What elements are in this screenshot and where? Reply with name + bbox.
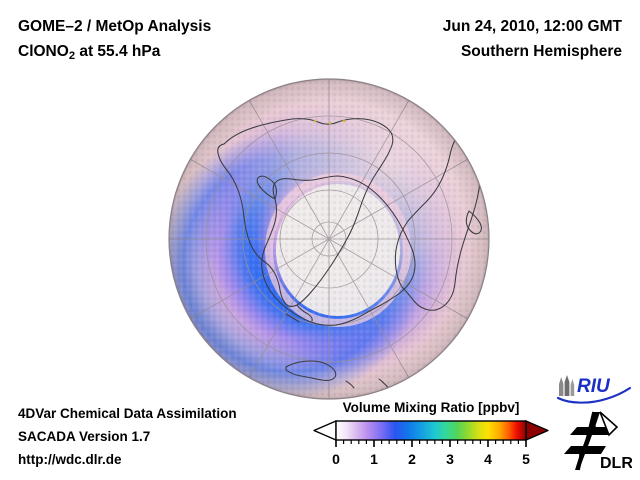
polar-map-globe [168, 78, 490, 400]
colorbar-title: Volume Mixing Ratio [ppbv] [312, 400, 550, 415]
colorbar-right-cap [526, 421, 548, 440]
colorbar: Volume Mixing Ratio [ppbv] 012345 [312, 400, 550, 470]
dlr-logo: DLR [562, 410, 632, 472]
footer-credits: 4DVar Chemical Data Assimilation SACADA … [18, 402, 237, 471]
colorbar-tick-label: 1 [370, 451, 378, 467]
colorbar-svg: 012345 [312, 420, 550, 470]
species-level: at 55.4 hPa [75, 43, 160, 60]
colorbar-tick-label: 3 [446, 451, 454, 467]
colorbar-tick-label: 4 [484, 451, 492, 467]
species-name: ClONO [18, 43, 69, 60]
colorbar-gradient [336, 421, 526, 440]
colorbar-tick-label: 2 [408, 451, 416, 467]
limb-shading [169, 79, 489, 399]
colorbar-tick-label: 0 [332, 451, 340, 467]
footer-line-version: SACADA Version 1.7 [18, 425, 237, 448]
footer-line-method: 4DVar Chemical Data Assimilation [18, 402, 237, 425]
timestamp-label: Jun 24, 2010, 12:00 GMT [443, 14, 622, 39]
header-right: Jun 24, 2010, 12:00 GMT Southern Hemisph… [443, 14, 622, 64]
riu-wordmark: RIU [577, 376, 611, 397]
title-line-species: ClONO2 at 55.4 hPa [18, 39, 211, 66]
colorbar-tick-label: 5 [522, 451, 530, 467]
riu-spire-icon [559, 375, 574, 396]
dlr-wordmark: DLR [600, 455, 632, 472]
title-line-instrument: GOME–2 / MetOp Analysis [18, 14, 211, 39]
colorbar-ticks [336, 440, 526, 447]
colorbar-tick-labels: 012345 [332, 451, 530, 467]
globe-field-layer [169, 79, 489, 399]
header-left: GOME–2 / MetOp Analysis ClONO2 at 55.4 h… [18, 14, 211, 66]
globe-svg [168, 78, 490, 400]
riu-logo: RIU [556, 372, 632, 404]
colorbar-left-cap [314, 421, 336, 440]
footer-line-url: http://wdc.dlr.de [18, 448, 237, 471]
hemisphere-label: Southern Hemisphere [443, 39, 622, 64]
species-subscript: 2 [69, 50, 75, 62]
